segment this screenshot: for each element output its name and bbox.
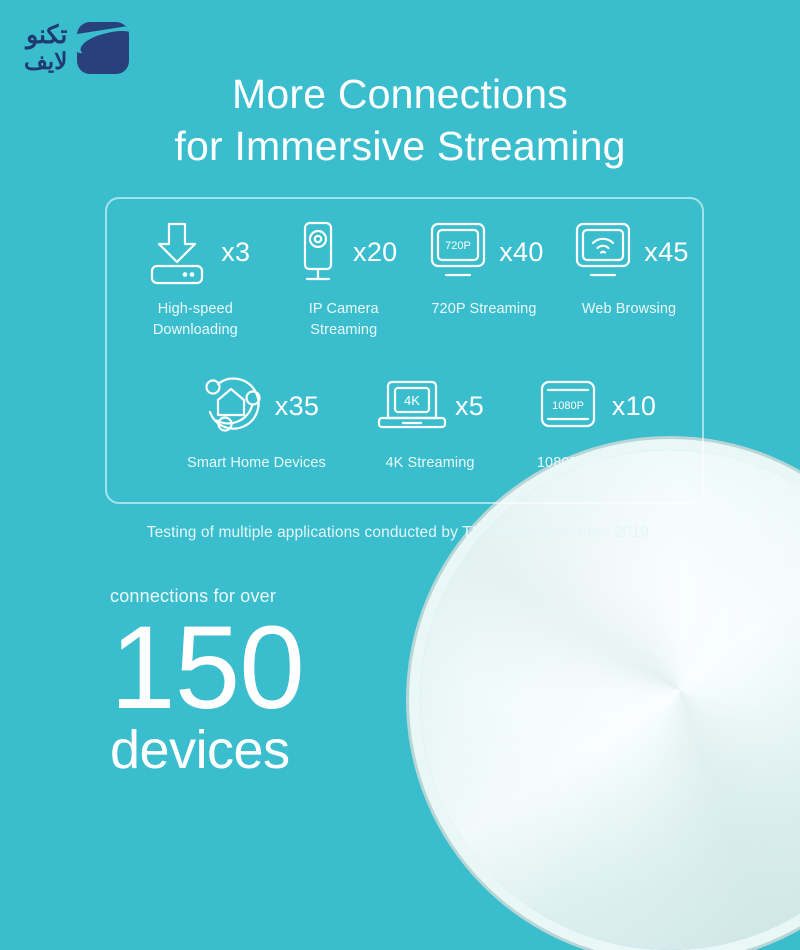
- stat-unit: devices: [110, 723, 304, 777]
- feature-4k-streaming: 4K x5 4K Streaming: [354, 367, 506, 474]
- page-title: More Connections for Immersive Streaming: [0, 68, 800, 173]
- feature-multiplier: x40: [499, 237, 543, 268]
- feature-label: Web Browsing: [582, 299, 676, 320]
- feature-multiplier: x3: [221, 237, 250, 268]
- brand-wordmark-line1: تكنو: [26, 23, 67, 48]
- feature-row: x35 Smart Home Devices 4K x5 4K Streamin…: [107, 367, 702, 474]
- feature-1080p-streaming: 1080P x10 1080P Streaming: [506, 367, 681, 474]
- laptop-4k-icon: 4K: [376, 370, 448, 442]
- download-drive-icon: [140, 216, 214, 288]
- feature-multiplier: x10: [612, 391, 656, 422]
- smart-home-icon: [194, 370, 268, 442]
- brand-logo: تكنو لايف: [24, 22, 129, 74]
- feature-label: IP Camera Streaming: [309, 299, 379, 340]
- monitor-1080p-icon: 1080P: [531, 370, 605, 442]
- laptop-screen-text: 4K: [404, 393, 420, 408]
- feature-label: 4K Streaming: [385, 453, 474, 474]
- feature-row: x3 High-speed Downloading x20 IP Camera …: [107, 213, 702, 340]
- footnote-text: Testing of multiple applications conduct…: [0, 524, 800, 542]
- feature-multiplier: x35: [275, 391, 319, 422]
- page-title-line1: More Connections: [0, 68, 800, 120]
- feature-multiplier: x5: [455, 391, 484, 422]
- feature-label: 720P Streaming: [431, 299, 536, 320]
- monitor-screen-text: 720P: [445, 240, 471, 252]
- monitor-screen-text: 1080P: [552, 400, 584, 412]
- monitor-wifi-icon: [569, 216, 637, 288]
- features-panel: x3 High-speed Downloading x20 IP Camera …: [105, 197, 704, 504]
- feature-720p-streaming: 720P x40 720P Streaming: [412, 213, 556, 340]
- page-title-line2: for Immersive Streaming: [0, 120, 800, 172]
- brand-wordmark: تكنو لايف: [24, 23, 67, 73]
- techno-life-logo-icon: [77, 22, 129, 74]
- stat-block: connections for over 150 devices: [110, 586, 304, 777]
- feature-ip-camera-streaming: x20 IP Camera Streaming: [276, 213, 412, 340]
- feature-web-browsing: x45 Web Browsing: [556, 213, 702, 340]
- stat-number: 150: [110, 611, 304, 727]
- feature-multiplier: x45: [644, 237, 688, 268]
- ip-camera-icon: [290, 216, 346, 288]
- feature-high-speed-downloading: x3 High-speed Downloading: [115, 213, 276, 340]
- feature-smart-home-devices: x35 Smart Home Devices: [159, 367, 354, 474]
- feature-label: Smart Home Devices: [187, 453, 326, 474]
- feature-label: High-speed Downloading: [153, 299, 238, 340]
- monitor-720p-icon: 720P: [424, 216, 492, 288]
- feature-multiplier: x20: [353, 237, 397, 268]
- feature-label: 1080P Streaming: [537, 453, 650, 474]
